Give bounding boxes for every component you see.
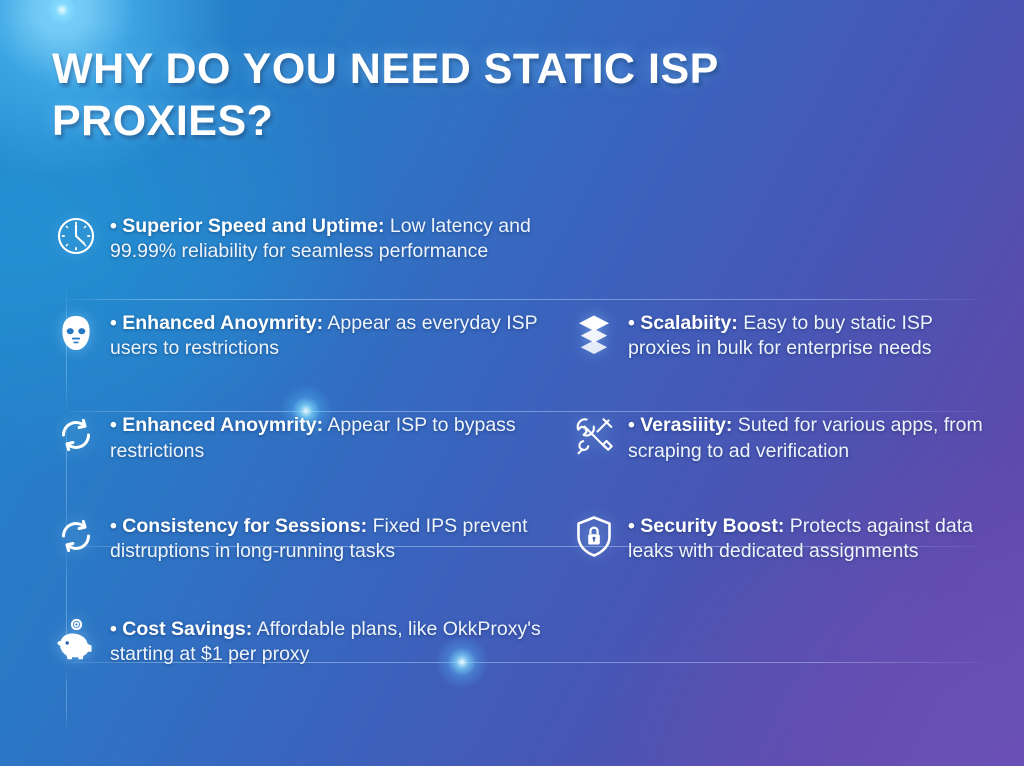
shield-lock-icon — [570, 512, 618, 560]
benefit-heading: Enhanced Anoymrity: — [122, 312, 323, 334]
benefit-row-3: • Enhanced Anoymrity: Appear ISP to bypa… — [0, 395, 1024, 478]
benefit-text: • Enhanced Anoymrity: Appear ISP to bypa… — [110, 409, 542, 464]
benefit-heading: Scalabiity: — [640, 312, 738, 334]
benefit-heading: Security Boost: — [640, 515, 784, 537]
tools-icon — [570, 411, 618, 459]
benefit-heading: Superior Speed and Uptime: — [122, 215, 384, 237]
benefit-item-consistency-for-sessions: • Consistency for Sessions: Fixed IPS pr… — [0, 496, 560, 579]
layers-icon — [570, 309, 618, 357]
benefit-text: • Consistency for Sessions: Fixed IPS pr… — [110, 510, 542, 565]
benefit-item-scalability: • Scalabiity: Easy to buy static ISP pro… — [560, 293, 1024, 376]
mask-icon — [52, 309, 100, 357]
benefit-row-1: • Superior Speed and Uptime: Low latency… — [0, 196, 1024, 279]
benefit-item-enhanced-anonymity-refresh: • Enhanced Anoymrity: Appear ISP to bypa… — [0, 395, 560, 478]
benefit-heading: Consistency for Sessions: — [122, 515, 367, 537]
infographic-poster: WHY DO YOU NEED STATIC ISP PROXIES? — [0, 0, 1024, 766]
benefits-grid: • Superior Speed and Uptime: Low latency… — [0, 196, 1024, 681]
refresh-icon — [52, 512, 100, 560]
bullet-marker: • — [628, 515, 640, 537]
benefit-text: • Cost Savings: Affordable plans, like O… — [110, 613, 542, 668]
glow-sparkle-top-left — [34, 0, 90, 38]
benefit-item-security-boost: • Security Boost: Protects against data … — [560, 496, 1024, 579]
benefit-row-2: • Enhanced Anoymrity: Appear as everyday… — [0, 293, 1024, 376]
benefit-item-versatility: • Verasiiity: Suted for various apps, fr… — [560, 395, 1024, 478]
benefit-row-5: • Cost Savings: Affordable plans, like O… — [0, 599, 1024, 682]
benefit-item-cost-savings: • Cost Savings: Affordable plans, like O… — [0, 599, 560, 682]
benefit-item-superior-speed-and-uptime: • Superior Speed and Uptime: Low latency… — [0, 196, 560, 279]
refresh-icon — [52, 411, 100, 459]
benefit-text: • Enhanced Anoymrity: Appear as everyday… — [110, 307, 542, 362]
bullet-marker: • — [110, 312, 122, 334]
benefit-text: • Security Boost: Protects against data … — [628, 510, 1000, 565]
benefit-row-4: • Consistency for Sessions: Fixed IPS pr… — [0, 496, 1024, 579]
bullet-marker: • — [628, 312, 640, 334]
bullet-marker: • — [110, 215, 122, 237]
benefit-heading: Verasiiity: — [640, 414, 732, 436]
bullet-marker: • — [110, 414, 122, 436]
piggy-bank-icon — [52, 615, 100, 663]
bullet-marker: • — [110, 515, 122, 537]
benefit-text: • Scalabiity: Easy to buy static ISP pro… — [628, 307, 1000, 362]
benefit-text: • Verasiiity: Suted for various apps, fr… — [628, 409, 1000, 464]
clock-icon — [52, 212, 100, 260]
benefit-heading: Enhanced Anoymrity: — [122, 414, 323, 436]
page-title: WHY DO YOU NEED STATIC ISP PROXIES? — [52, 43, 912, 148]
bullet-marker: • — [110, 618, 122, 640]
benefit-text: • Superior Speed and Uptime: Low latency… — [110, 210, 542, 265]
bullet-marker: • — [628, 414, 640, 436]
benefit-heading: Cost Savings: — [122, 618, 252, 640]
benefit-item-enhanced-anonymity-mask: • Enhanced Anoymrity: Appear as everyday… — [0, 293, 560, 376]
